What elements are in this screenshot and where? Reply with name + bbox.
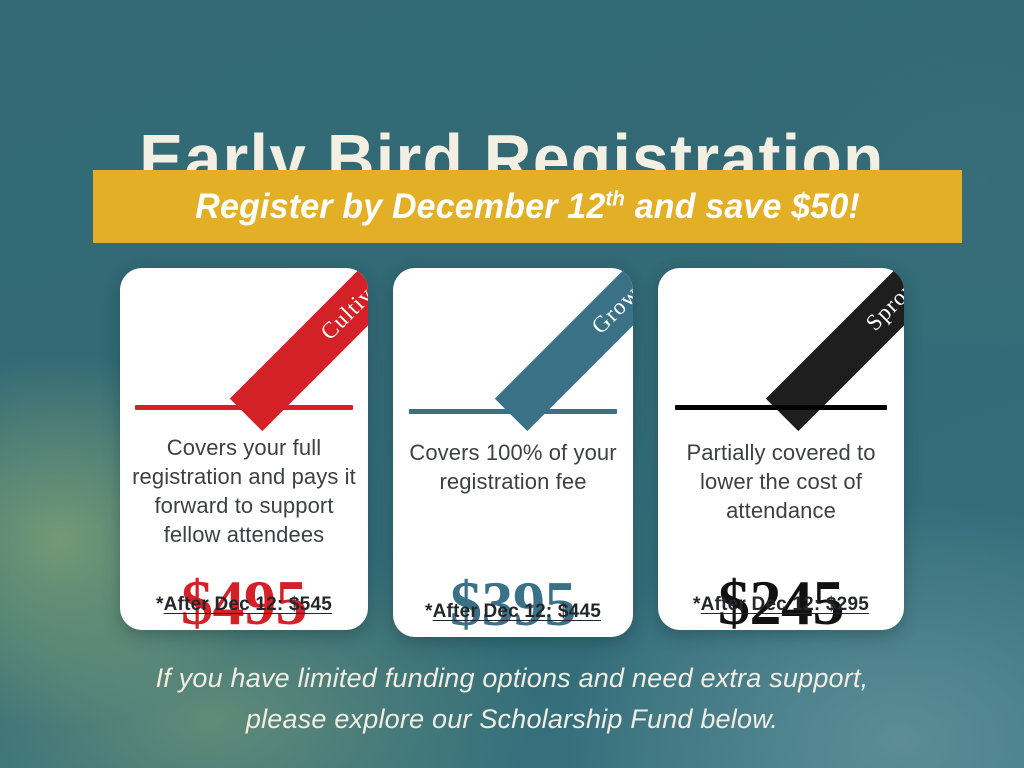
banner-text-before: Register by December 12 xyxy=(195,187,605,226)
early-bird-deadline-banner: Register by December 12th and save $50! xyxy=(93,170,962,243)
footnote-body: After Dec 12: $445 xyxy=(433,601,601,622)
card-divider xyxy=(409,409,617,414)
card-divider xyxy=(135,405,353,410)
early-bird-registration-poster: Early Bird Registration Register by Dece… xyxy=(0,0,1024,768)
corner-ribbon: Sprout xyxy=(734,268,904,438)
footnote-asterisk: * xyxy=(425,601,433,622)
footnote-asterisk: * xyxy=(693,594,701,615)
banner-text-after: and save $50! xyxy=(625,187,860,226)
card-divider xyxy=(675,405,887,410)
pricing-card-sprout[interactable]: Sprout $245 Partially covered to lower t… xyxy=(658,268,904,630)
card-description: Partially covered to lower the cost of a… xyxy=(668,438,894,525)
banner-superscript: th xyxy=(605,187,625,210)
ribbon-label: Sprout xyxy=(861,270,904,336)
footnote-asterisk: * xyxy=(156,594,164,615)
pricing-card-cultivate[interactable]: Cultivate $495 Covers your full registra… xyxy=(120,268,368,630)
footnote-body: After Dec 12: $545 xyxy=(164,594,332,615)
footer-line-2: please explore our Scholarship Fund belo… xyxy=(0,699,1024,740)
card-description: Covers 100% of your registration fee xyxy=(403,438,623,496)
pricing-card-grower[interactable]: Grower $395 Covers 100% of your registra… xyxy=(393,268,633,637)
card-description: Covers your full registration and pays i… xyxy=(130,433,358,549)
footer-line-1: If you have limited funding options and … xyxy=(0,658,1024,699)
footnote-body: After Dec 12: $295 xyxy=(701,594,869,615)
banner-text: Register by December 12th and save $50! xyxy=(195,188,860,226)
card-footnote: *After Dec 12: $545 xyxy=(126,594,362,616)
ribbon-band: Grower xyxy=(495,268,633,431)
ribbon-label: Cultivate xyxy=(316,268,368,345)
scholarship-fund-note: If you have limited funding options and … xyxy=(0,658,1024,740)
ribbon-label: Grower xyxy=(587,268,633,339)
corner-ribbon: Cultivate xyxy=(198,268,368,438)
card-footnote: *After Dec 12: $445 xyxy=(399,601,627,623)
card-footnote: *After Dec 12: $295 xyxy=(664,594,898,616)
